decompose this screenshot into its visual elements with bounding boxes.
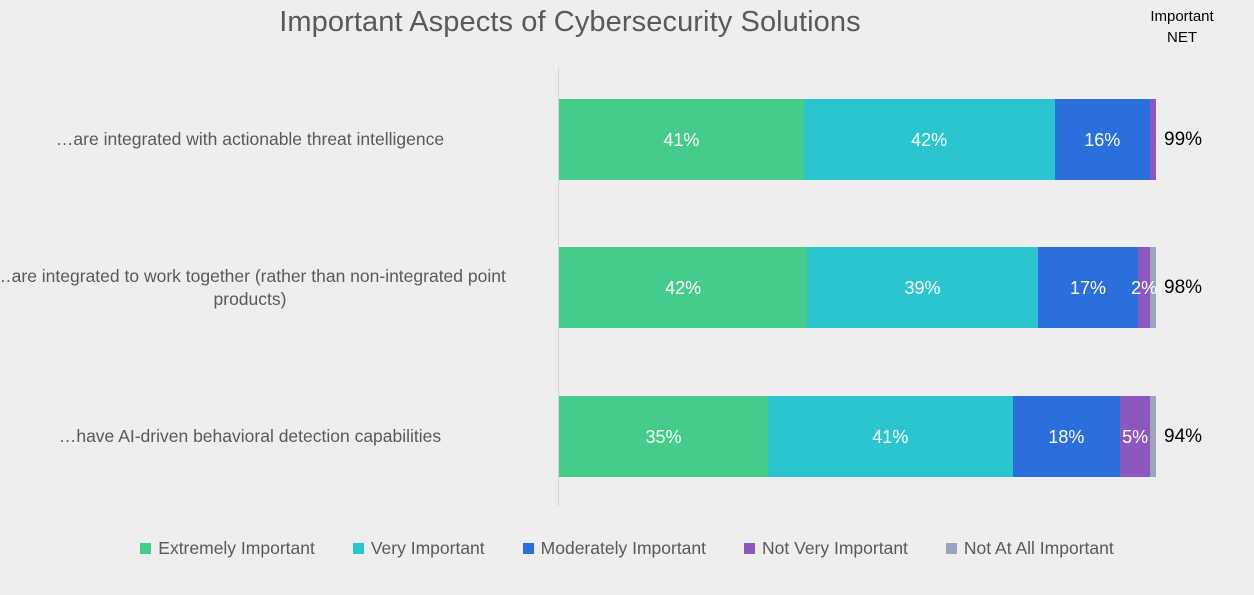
bar-segment-extremely-important[interactable]: 42%: [559, 247, 807, 328]
bar-segment-moderately-important[interactable]: 18%: [1013, 396, 1120, 477]
legend-swatch-icon: [140, 543, 151, 554]
bar-segment-moderately-important[interactable]: 16%: [1055, 99, 1151, 180]
bar-segment-value: 39%: [904, 279, 940, 297]
bar-segment-extremely-important[interactable]: 35%: [559, 396, 768, 477]
bar-segment-not-at-all-important[interactable]: [1150, 396, 1156, 477]
legend-label: Moderately Important: [541, 538, 706, 559]
legend-item-not-very-important[interactable]: Not Very Important: [744, 538, 908, 559]
legend-item-moderately-important[interactable]: Moderately Important: [523, 538, 706, 559]
bar-segment-value: 2%: [1131, 279, 1157, 297]
bar-segment-value: 42%: [911, 131, 947, 149]
bar-segment-value: 41%: [872, 428, 908, 446]
bar-segment-very-important[interactable]: 41%: [768, 396, 1013, 477]
chart-legend: Extremely Important Very Important Moder…: [0, 531, 1254, 565]
stacked-bar: 41% 42% 16%: [559, 99, 1156, 180]
legend-swatch-icon: [744, 543, 755, 554]
category-label: …are integrated with actionable threat i…: [0, 99, 538, 180]
bar-segment-not-very-important[interactable]: 2%: [1138, 247, 1150, 328]
legend-swatch-icon: [523, 543, 534, 554]
net-value: 98%: [1164, 247, 1202, 328]
stacked-bar: 35% 41% 18% 5%: [559, 396, 1156, 477]
legend-swatch-icon: [353, 543, 364, 554]
bar-segment-not-very-important[interactable]: 5%: [1120, 396, 1150, 477]
bar-segment-value: 35%: [645, 428, 681, 446]
bar-segment-value: 17%: [1070, 279, 1106, 297]
category-label: …are integrated to work together (rather…: [0, 247, 538, 328]
legend-item-extremely-important[interactable]: Extremely Important: [140, 538, 315, 559]
legend-item-not-at-all-important[interactable]: Not At All Important: [946, 538, 1114, 559]
bar-segment-moderately-important[interactable]: 17%: [1038, 247, 1138, 328]
bar-row: …are integrated to work together (rather…: [0, 247, 1254, 328]
bar-segment-extremely-important[interactable]: 41%: [559, 99, 804, 180]
bar-segment-value: 41%: [663, 131, 699, 149]
stacked-bar: 42% 39% 17% 2%: [559, 247, 1156, 328]
bar-segment-value: 42%: [665, 279, 701, 297]
bar-row: …have AI-driven behavioral detection cap…: [0, 396, 1254, 477]
legend-label: Not At All Important: [964, 538, 1114, 559]
bar-segment-value: 18%: [1048, 428, 1084, 446]
chart-plot-area: …are integrated with actionable threat i…: [0, 0, 1254, 520]
bar-segment-very-important[interactable]: 42%: [804, 99, 1055, 180]
bar-segment-value: 5%: [1122, 428, 1148, 446]
category-label: …have AI-driven behavioral detection cap…: [0, 396, 538, 477]
net-value: 94%: [1164, 396, 1202, 477]
bar-segment-not-very-important[interactable]: [1150, 99, 1156, 180]
legend-label: Very Important: [371, 538, 485, 559]
legend-swatch-icon: [946, 543, 957, 554]
legend-label: Extremely Important: [158, 538, 315, 559]
legend-item-very-important[interactable]: Very Important: [353, 538, 485, 559]
bar-row: …are integrated with actionable threat i…: [0, 99, 1254, 180]
net-value: 99%: [1164, 99, 1202, 180]
bar-segment-value: 16%: [1084, 131, 1120, 149]
legend-label: Not Very Important: [762, 538, 908, 559]
bar-segment-very-important[interactable]: 39%: [807, 247, 1038, 328]
